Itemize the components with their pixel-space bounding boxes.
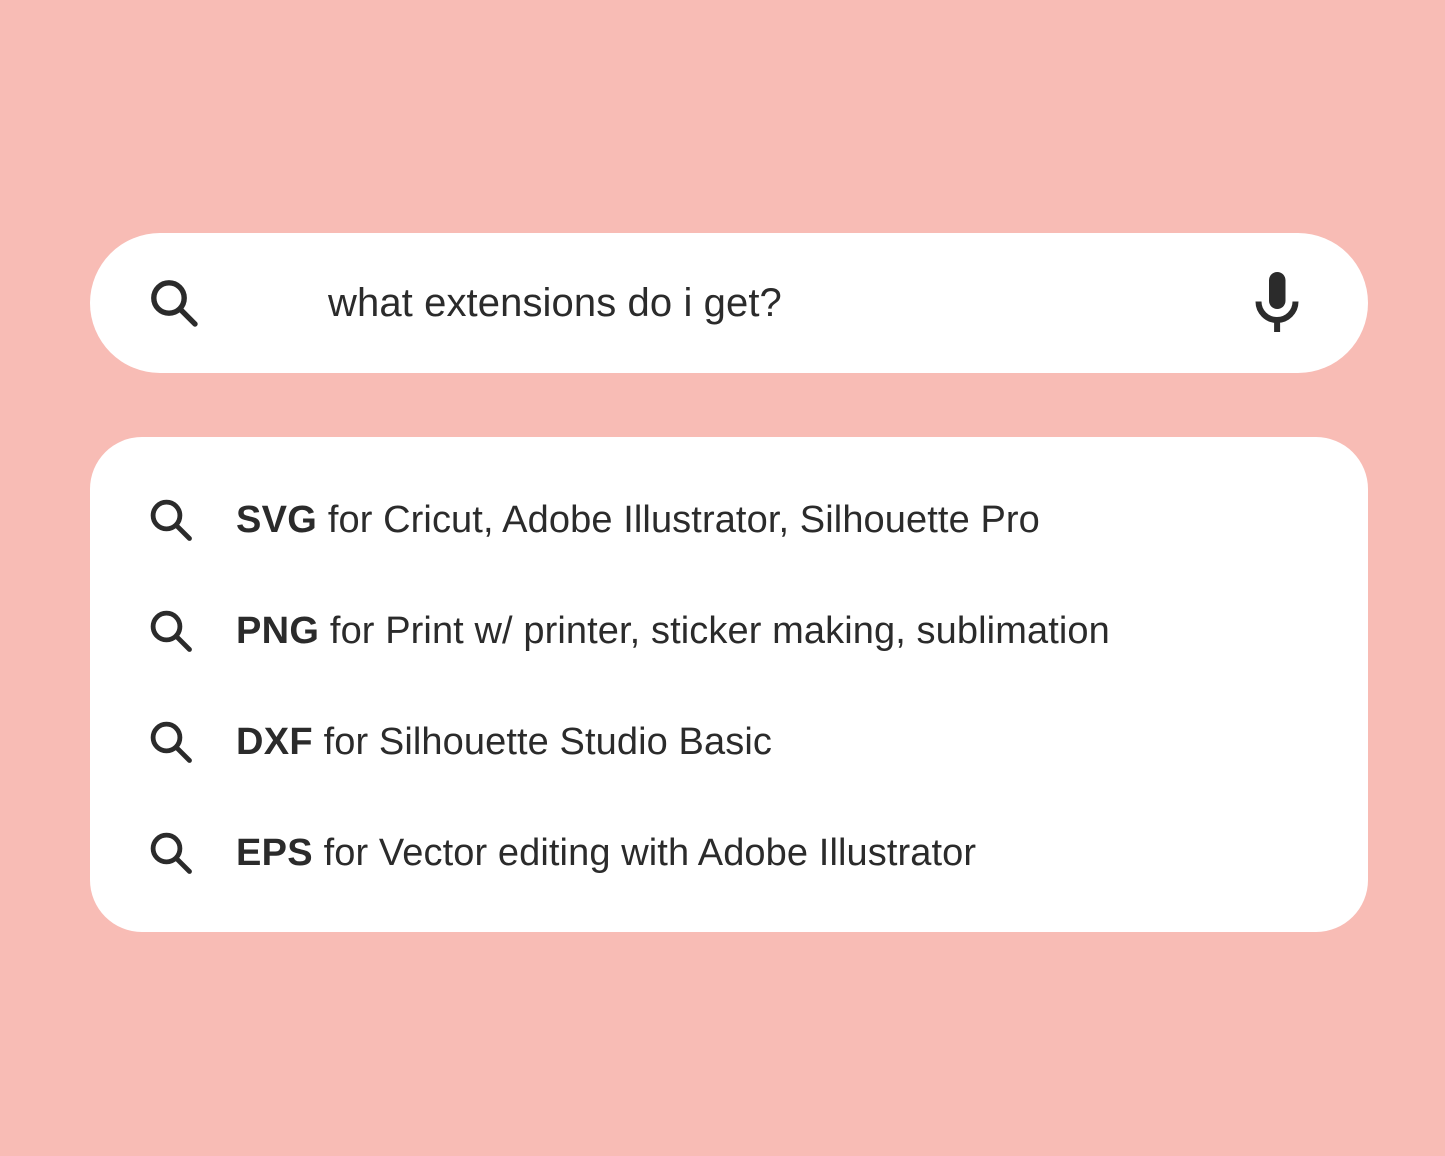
suggestion-text: PNG for Print w/ printer, sticker making…: [236, 612, 1110, 650]
suggestion-prefix: EPS: [236, 832, 313, 874]
search-bar[interactable]: what extensions do i get?: [90, 233, 1368, 373]
suggestion-text: SVG for Cricut, Adobe Illustrator, Silho…: [236, 501, 1040, 539]
search-icon: [148, 497, 194, 543]
suggestion-text: EPS for Vector editing with Adobe Illust…: [236, 834, 976, 872]
search-icon: [148, 830, 194, 876]
suggestions-card: SVG for Cricut, Adobe Illustrator, Silho…: [90, 437, 1368, 932]
suggestion-item-png[interactable]: PNG for Print w/ printer, sticker making…: [90, 575, 1368, 686]
suggestion-item-dxf[interactable]: DXF for Silhouette Studio Basic: [90, 686, 1368, 797]
suggestion-prefix: PNG: [236, 610, 319, 652]
search-input[interactable]: what extensions do i get?: [328, 283, 782, 323]
suggestion-description: for Silhouette Studio Basic: [313, 721, 772, 763]
search-icon: [148, 719, 194, 765]
page-background: what extensions do i get? SVG for Cricut…: [0, 0, 1445, 1156]
suggestion-prefix: DXF: [236, 721, 313, 763]
microphone-icon[interactable]: [1248, 270, 1306, 336]
suggestion-item-svg[interactable]: SVG for Cricut, Adobe Illustrator, Silho…: [90, 464, 1368, 575]
suggestion-description: for Cricut, Adobe Illustrator, Silhouett…: [317, 499, 1040, 541]
suggestion-prefix: SVG: [236, 499, 317, 541]
suggestion-item-eps[interactable]: EPS for Vector editing with Adobe Illust…: [90, 797, 1368, 908]
search-icon: [148, 277, 200, 329]
suggestion-text: DXF for Silhouette Studio Basic: [236, 723, 772, 761]
suggestion-description: for Print w/ printer, sticker making, su…: [319, 610, 1110, 652]
suggestion-description: for Vector editing with Adobe Illustrato…: [313, 832, 976, 874]
search-icon: [148, 608, 194, 654]
